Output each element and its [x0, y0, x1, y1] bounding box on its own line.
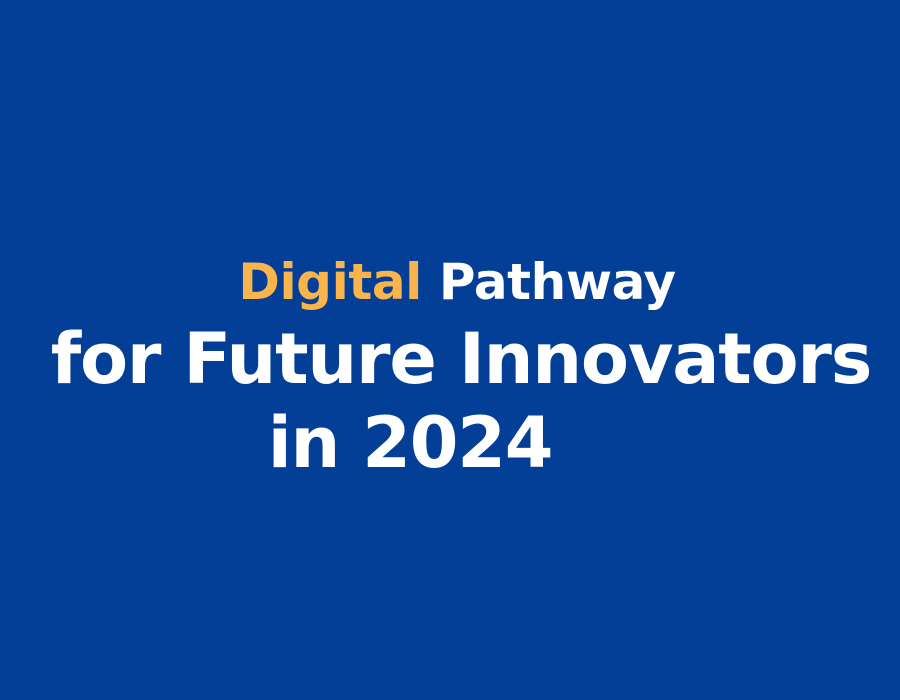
headline-line-2: for Future Innovators: [0, 318, 900, 401]
headline-word-separator: [422, 253, 439, 311]
headline-line-3: in 2024: [0, 401, 900, 485]
headline-line-1: Digital Pathway: [0, 246, 900, 318]
promo-banner: Digital Pathway for Future Innovators in…: [0, 0, 900, 700]
headline-accent-word: Digital: [238, 253, 422, 311]
headline-block: Digital Pathway for Future Innovators in…: [0, 246, 900, 485]
headline-line-1-plain: Pathway: [439, 253, 676, 311]
